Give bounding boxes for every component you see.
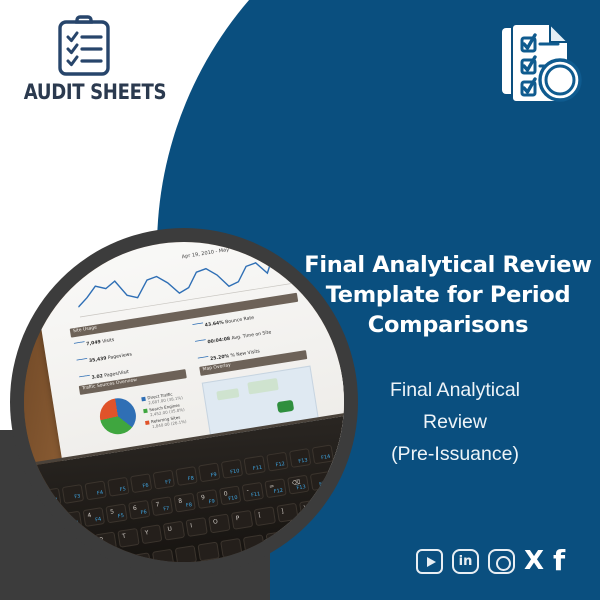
x-twitter-icon[interactable]: X [524,548,544,574]
keycap: O [208,513,230,533]
keycap [243,534,265,554]
keycap: ] [276,503,298,523]
keycap: Q [26,542,48,562]
circular-photo: Bounce Rate 43.64% Bounce Rate Previous … [24,242,344,562]
map-region-highlight [277,400,295,413]
keycap: 1F1 [24,518,37,538]
facebook-icon[interactable]: f [553,548,565,574]
keycap: W [49,539,71,559]
banner-canvas: Bounce Rate 43.64% Bounce Rate Previous … [0,0,600,600]
linkedin-label: in [454,554,477,569]
metric-right-0: ▔▔▔ 43.64% Bounce Rate [193,316,255,331]
play-triangle-icon [427,557,436,567]
panel-map-overlay-title: Map Overlay [202,363,231,372]
keycap: F1 [24,491,39,511]
keycap: F6 [130,473,152,493]
keycap: 7F7 [151,496,173,516]
keycap: ⌫F13 [287,475,309,495]
keycap: [ [254,506,276,526]
keycap: 2F2 [37,514,59,534]
instagram-ring [496,556,511,571]
brand-logo[interactable]: AUDIT SHEETS [14,14,154,104]
keycap: 5F5 [105,503,127,523]
keycap [107,556,129,562]
keycap: 0F10 [219,485,241,505]
keycap: U [163,521,185,541]
keycap: -F11 [242,482,264,502]
keycap: Y [140,524,162,544]
keycap: F2 [39,488,61,508]
keycap: F7 [153,470,175,490]
keycap [278,555,300,562]
clipboard-checklist-icon [55,14,113,76]
keycap: F8 [175,466,197,486]
subtitle-line-3: (Pre-Issuance) [330,438,580,470]
keycap: R [95,531,117,551]
keycap: 3F3 [60,511,82,531]
page-subtitle: Final Analytical Review (Pre-Issuance) [330,374,580,470]
brand-name: AUDIT SHEETS [24,80,144,104]
social-links: in X f [416,548,565,574]
linkedin-icon[interactable]: in [452,549,479,574]
keycap: 4F4 [83,507,105,527]
keycap [255,559,277,562]
title-line-2: Template for Period [302,280,594,310]
map-landmass-1 [216,388,239,400]
keycap: F5 [107,477,129,497]
keycap: I [185,517,207,537]
keycap [266,531,288,551]
keycap: 9F9 [196,489,218,509]
keycap: 6F6 [128,500,150,520]
keycap: T [117,528,139,548]
keycap: P [231,510,253,530]
keycap: F4 [84,480,106,500]
metric-left-1: ▔▔▔ 35,439 Pageviews [77,352,132,366]
keycap: 8F8 [173,493,195,513]
keycap: F12 [266,452,288,472]
keycap [129,552,151,562]
title-line-1: Final Analytical Review [302,250,594,280]
keycap [220,538,242,558]
traffic-sources-pie [97,396,138,437]
page-title: Final Analytical Review Template for Per… [302,250,594,340]
keycap [197,542,219,562]
metric-right-1: ▔▔▔ 00:04:08 Avg. Time on Site [195,330,271,347]
instagram-icon[interactable] [488,549,515,574]
keycap [288,527,310,547]
keycap: E [72,535,94,555]
panel-site-usage-title: Site Usage [73,326,98,335]
keycap: F14 [310,471,332,491]
keycap: =F12 [264,478,286,498]
keycap: F9 [198,462,220,482]
documents-checklist-magnifier-icon [500,22,582,108]
youtube-icon[interactable] [416,549,443,574]
map-landmass-2 [247,378,279,395]
keycap: \ [299,499,321,519]
keycap [175,545,197,562]
keycap [152,549,174,562]
subtitle-line-1: Final Analytical [330,374,580,406]
photo-scene: Bounce Rate 43.64% Bounce Rate Previous … [24,242,344,562]
keycap: F13 [289,448,311,468]
metric-left-0: ▔▔▔ 7,049 Visits [74,338,115,349]
title-line-3: Comparisons [302,310,594,340]
keycap: F10 [221,459,243,479]
keycap: F11 [243,455,265,475]
subtitle-line-2: Review [330,406,580,438]
keycap: F3 [62,484,84,504]
keycap [84,560,106,562]
